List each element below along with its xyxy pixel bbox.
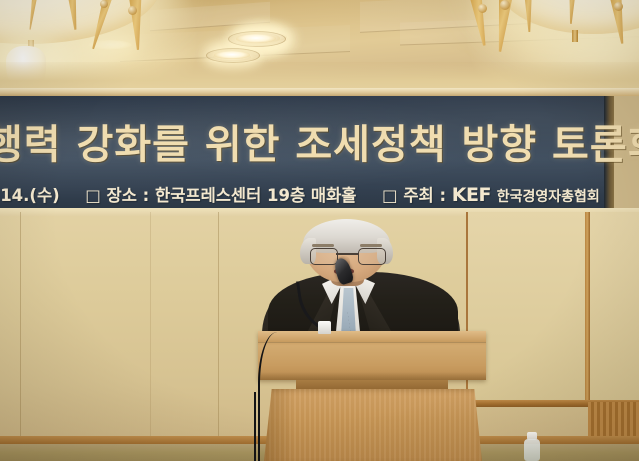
chandelier-knob [500,0,510,10]
downlight-icon [214,51,250,59]
microphone-cable-lower [254,392,264,461]
eyeglasses-bridge [336,253,358,255]
wall-seam [218,212,219,440]
podium-body [264,389,482,461]
venue-label: 장소 [107,186,137,205]
host-separator: : [439,186,446,205]
banner-subtitle: 14.(수) □ 장소 : 한국프레스센터 19층 매화홀 □ 주최 : KEF… [0,182,600,206]
banner-title: 행력 강화를 위한 조세정책 방향 토론회 [0,112,606,170]
chandelier-knob [100,0,108,8]
eyebrow-right [360,244,382,247]
host-marker-icon: □ [382,186,398,205]
water-bottle-body [524,439,540,461]
host-label: 주최 [403,186,433,205]
podium-top [258,331,486,380]
wall-seam [150,212,151,438]
wall-seam [20,212,21,442]
wall-trim-vertical [585,212,590,402]
downlight-icon [236,34,276,43]
eyeglasses-lens-left [310,248,338,265]
chandelier-knob [614,2,623,11]
wall-panel-right [466,212,639,402]
host-org-name: 한국경영자총협회 [497,189,600,205]
ceiling [0,0,639,96]
venue-value: 한국프레스센터 19층 매화홀 [155,186,356,205]
water-bottle [524,432,540,461]
ceiling-panel [150,2,270,31]
eyeglasses-lens-right [358,248,386,265]
venue-separator: : [143,186,150,205]
banner-date: 14.(수) [0,186,60,205]
podium-top-edge [258,331,486,343]
ceiling-edge [0,88,639,96]
conference-photo: 행력 강화를 위한 조세정책 방향 토론회 14.(수) □ 장소 : 한국프레… [0,0,639,461]
host-org-abbr: KEF [452,184,491,206]
chandelier-knob [128,6,137,15]
bottle-cap-on-podium [318,321,331,334]
chandelier-knob [478,4,487,13]
venue-marker-icon: □ [85,186,101,205]
chandelier-stem [572,30,578,42]
eyebrow-left [312,244,334,247]
